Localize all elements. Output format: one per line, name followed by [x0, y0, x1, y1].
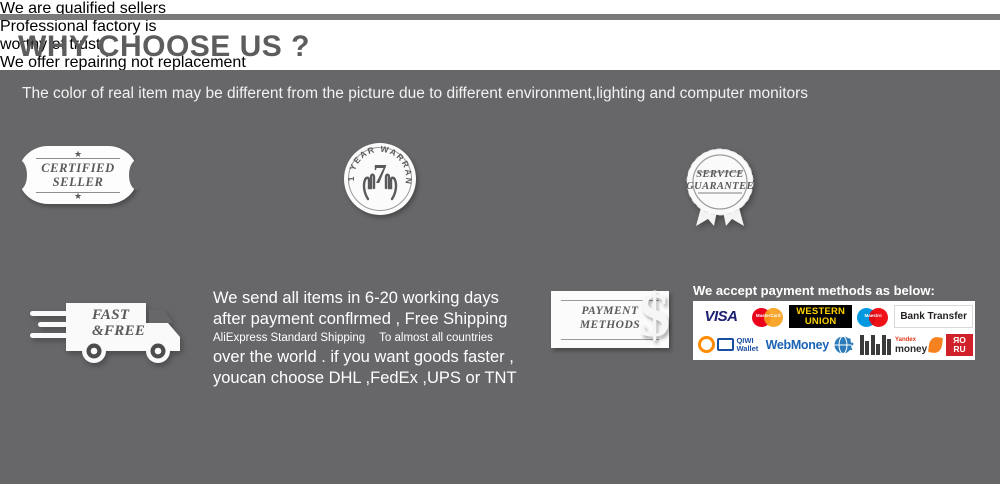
body-panel [0, 70, 1000, 484]
service-line1: SERVICE [682, 169, 758, 181]
visa-logo: VISA [695, 305, 747, 328]
badge-text: SERVICE GUARANTEE [682, 169, 758, 193]
shipping-line2: over the world . if you want goods faste… [213, 347, 517, 388]
one-year-warranty-badge: 1 YEAR WARRANTY 7 [344, 143, 416, 215]
qiwi-text: QIWI Wallet [736, 337, 758, 353]
flame-icon [928, 336, 943, 354]
bar [871, 335, 875, 355]
qiwi-line2: Wallet [736, 344, 758, 353]
shipping-standard: AliExpress Standard Shipping [213, 332, 365, 344]
star-icon: ★ [74, 192, 82, 201]
shipping-small-line: AliExpress Standard ShippingTo almost al… [213, 329, 517, 347]
maestro-logo: Maestro [855, 306, 891, 328]
page-title: WHY CHOOSE US ? [18, 30, 310, 64]
bank-transfer-logo: Bank Transfer [894, 305, 973, 328]
barcode-logo [860, 335, 892, 355]
wallet-icon [717, 338, 734, 351]
certified-line2: SELLER [18, 175, 138, 189]
truck-label-line2: &FREE [92, 323, 145, 339]
webmoney-logo: WebMoney [765, 333, 830, 356]
maestro-wordmark: Maestro [855, 313, 891, 318]
wu-line2: UNION [805, 317, 837, 327]
shipping-text: We send all items in 6-20 working days a… [213, 288, 517, 388]
truck-label: FAST &FREE [92, 307, 145, 339]
badge-text: CERTIFIED SELLER [18, 161, 138, 189]
service-guarantee-badge: SERVICE GUARANTEE [682, 146, 758, 228]
warranty-number: 7 [344, 159, 416, 190]
shipping-countries: To almost all countries [379, 332, 493, 344]
ru-line2: RU [953, 345, 965, 354]
certified-seller-badge: ★ CERTIFIED SELLER ★ [18, 146, 138, 204]
payment-logo-row: QIWI Wallet WebMoney [695, 332, 973, 357]
yandex-money-logo: Yandex money [894, 333, 943, 356]
color-disclaimer: The color of real item may be different … [22, 85, 972, 103]
yandex-line2: money [895, 344, 927, 355]
bar [882, 335, 886, 355]
shipping-line1: We send all items in 6-20 working days a… [213, 288, 517, 329]
payments-title: We accept payment methods as below: [693, 283, 975, 298]
qiwi-wallet-logo: QIWI Wallet [695, 333, 762, 356]
bar [887, 339, 891, 355]
payment-logo-grid: VISA MasterCard WESTERN UNION Maestro Ba… [693, 301, 975, 360]
yandex-text: Yandex money [895, 335, 927, 355]
fast-free-truck-icon: FAST &FREE [28, 285, 203, 370]
bar [876, 344, 880, 355]
header-divider [0, 14, 1000, 20]
service-line2: GUARANTEE [682, 181, 758, 193]
western-union-logo: WESTERN UNION [789, 305, 851, 328]
mastercard-wordmark: MasterCard [750, 313, 786, 318]
mastercard-logo: MasterCard [750, 306, 786, 328]
globe-icon [833, 334, 857, 356]
ru-logo: ЯО RU [946, 334, 973, 356]
qiwi-q-icon [698, 336, 715, 353]
badge-flourish-top [36, 158, 120, 159]
certified-line1: CERTIFIED [18, 161, 138, 175]
accepted-payments-block: We accept payment methods as below: VISA… [693, 283, 975, 360]
payment-logo-row: VISA MasterCard WESTERN UNION Maestro Ba… [695, 304, 973, 329]
globe-logo [833, 333, 857, 356]
payment-methods-card: PAYMENT METHODS $ [551, 291, 669, 348]
dollar-sign-icon: $ [639, 285, 670, 347]
why-choose-us-banner: WHY CHOOSE US ? The color of real item m… [0, 0, 1000, 484]
bar [860, 335, 864, 355]
truck-label-line1: FAST [92, 307, 145, 323]
bar [865, 341, 869, 355]
